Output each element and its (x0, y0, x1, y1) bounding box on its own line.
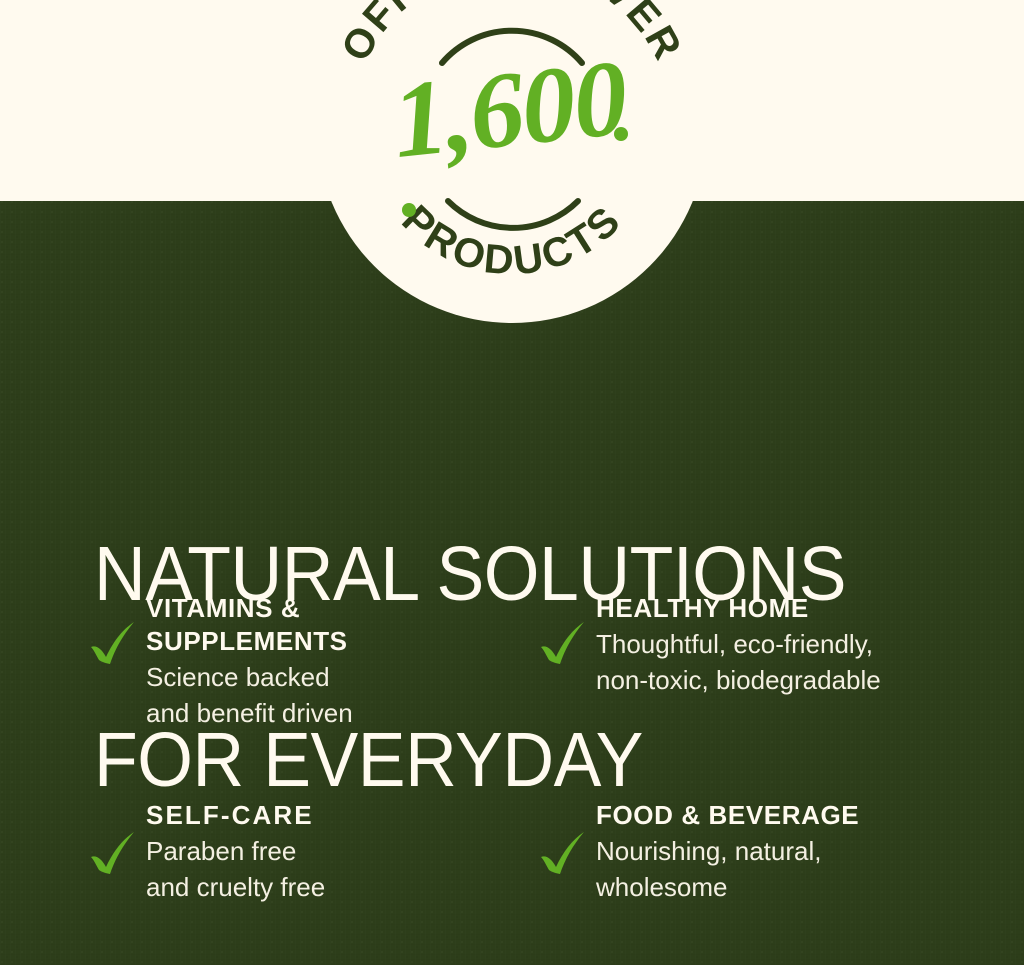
checkmark-icon (88, 828, 140, 880)
feature-title: FOOD & BEVERAGE (596, 799, 859, 832)
feature-description: Nourishing, natural, wholesome (596, 833, 859, 905)
offering-over-products-badge: OFFERING OVER PRODUCTS 1,600 (317, 0, 707, 323)
promo-banner: OFFERING OVER PRODUCTS 1,600 NATURAL SOL… (0, 0, 1024, 965)
badge-arc-text-bottom: PRODUCTS (394, 196, 631, 284)
badge-inner-arc-bottom (448, 201, 578, 228)
feature-title: VITAMINS & SUPPLEMENTS (146, 592, 353, 658)
badge-product-count: 1,600 (387, 38, 632, 181)
feature-item-vitamins-supplements: VITAMINS & SUPPLEMENTS Science backed an… (88, 588, 538, 795)
feature-text-block: HEALTHY HOME Thoughtful, eco-friendly, n… (596, 588, 881, 698)
feature-title: SELF-CARE (146, 799, 325, 832)
feature-text-block: VITAMINS & SUPPLEMENTS Science backed an… (146, 588, 353, 731)
feature-description: Paraben free and cruelty free (146, 833, 325, 905)
feature-item-food-beverage: FOOD & BEVERAGE Nourishing, natural, who… (538, 795, 998, 905)
feature-description: Thoughtful, eco-friendly, non-toxic, bio… (596, 626, 881, 698)
feature-text-block: FOOD & BEVERAGE Nourishing, natural, who… (596, 795, 859, 905)
feature-item-self-care: SELF-CARE Paraben free and cruelty free (88, 795, 538, 905)
checkmark-icon (538, 618, 590, 670)
feature-item-healthy-home: HEALTHY HOME Thoughtful, eco-friendly, n… (538, 588, 998, 795)
feature-list: VITAMINS & SUPPLEMENTS Science backed an… (88, 588, 998, 905)
badge-dot-left-icon (402, 203, 416, 217)
checkmark-icon (538, 828, 590, 880)
feature-description: Science backed and benefit driven (146, 659, 353, 731)
feature-text-block: SELF-CARE Paraben free and cruelty free (146, 795, 325, 905)
checkmark-icon (88, 618, 140, 670)
feature-title: HEALTHY HOME (596, 592, 881, 625)
